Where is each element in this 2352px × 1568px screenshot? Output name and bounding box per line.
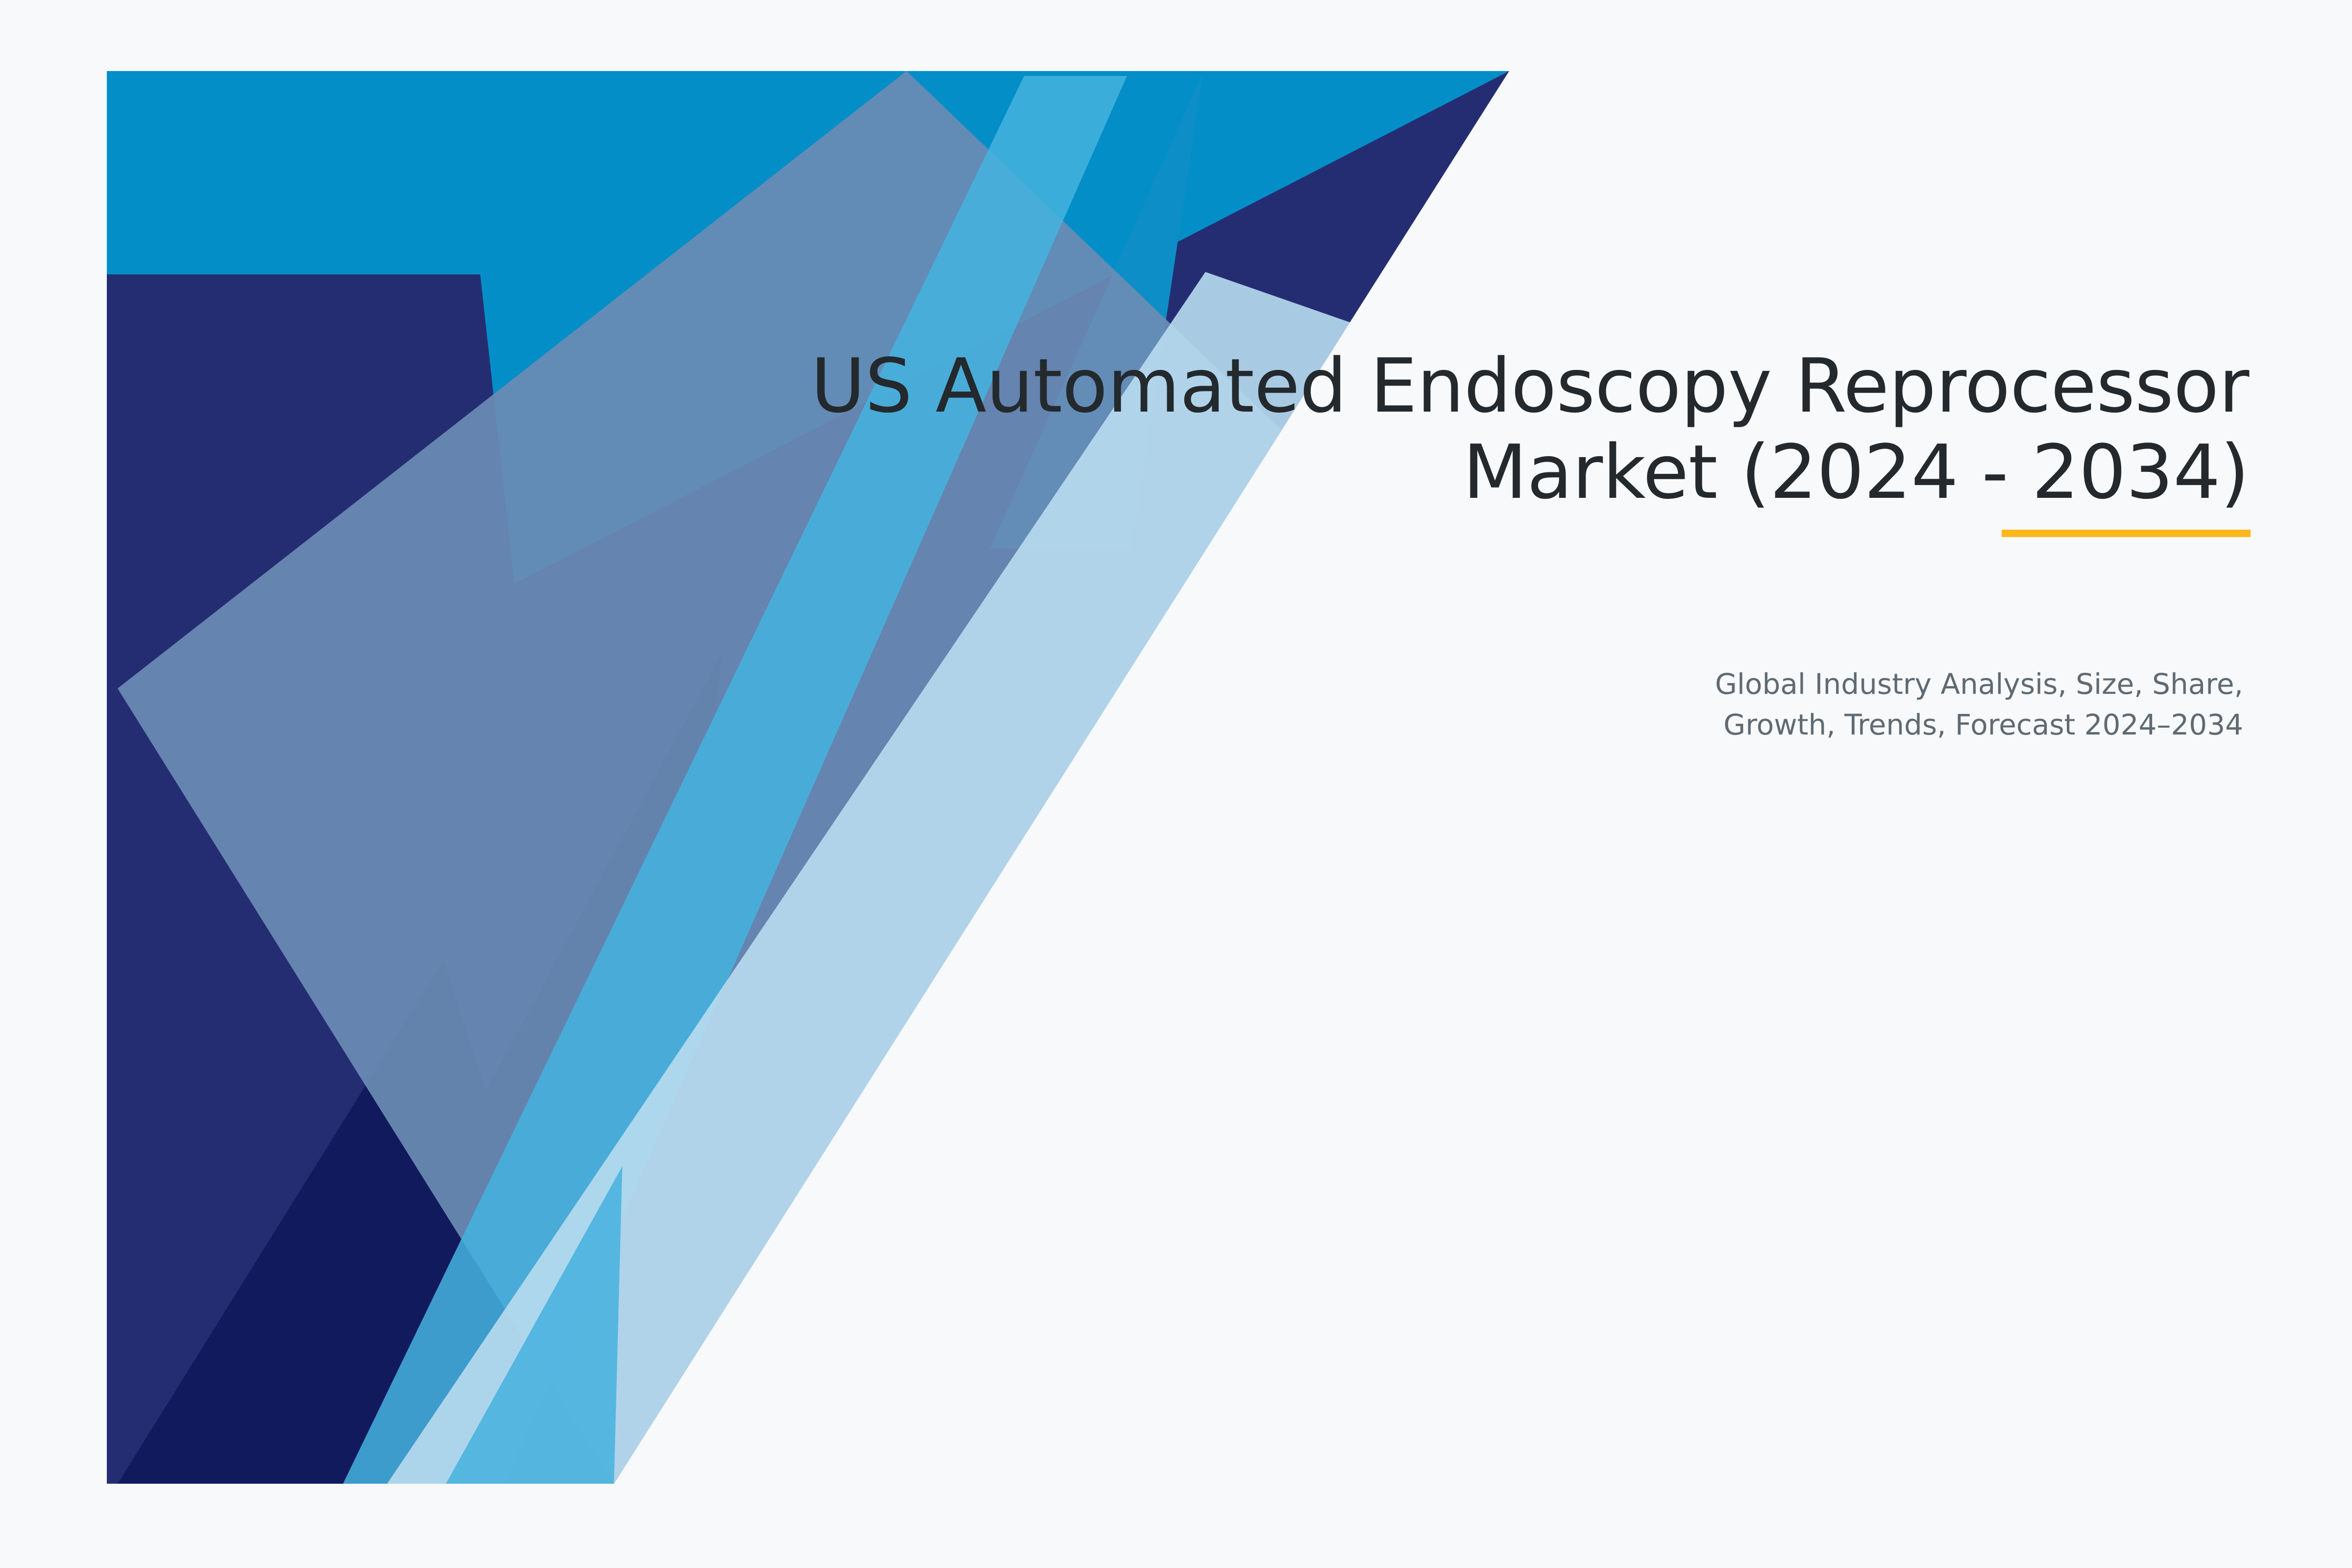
title-accent-underline	[2002, 530, 2251, 537]
cover-text-block: US Automated Endoscopy Reprocessor Marke…	[637, 343, 2249, 516]
page-title: US Automated Endoscopy Reprocessor Marke…	[637, 343, 2249, 516]
page-subtitle: Global Industry Analysis, Size, Share, G…	[637, 664, 2243, 745]
report-cover-page: US Automated Endoscopy Reprocessor Marke…	[0, 0, 2352, 1568]
abstract-polygon-graphic	[0, 0, 2352, 1568]
